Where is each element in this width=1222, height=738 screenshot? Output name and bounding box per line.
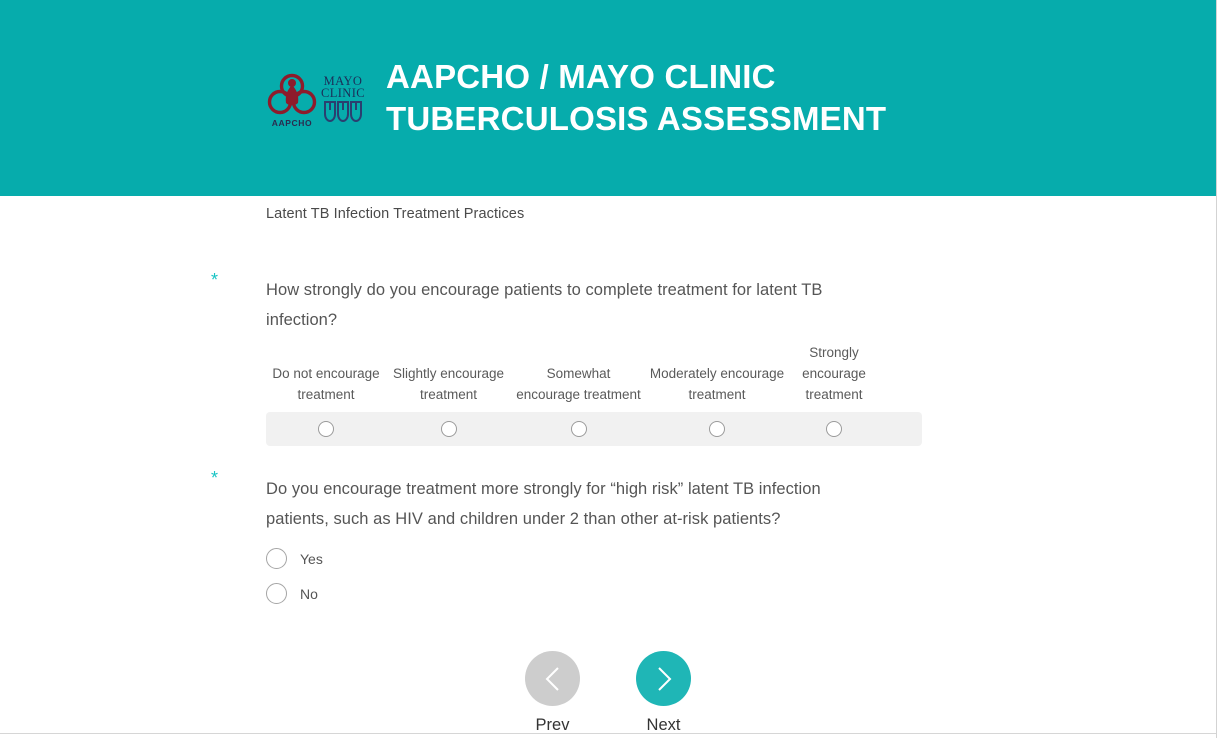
- form-body: Latent TB Infection Treatment Practices …: [0, 196, 1216, 738]
- next-button[interactable]: Next: [636, 651, 691, 735]
- rating-option-label-4: Moderately encourage treatment: [646, 363, 788, 405]
- mayo-shields-icon: [321, 100, 365, 126]
- rating-radio-3[interactable]: [571, 421, 587, 437]
- aapcho-logo: AAPCHO: [267, 73, 317, 128]
- choice-list-q2: Yes No: [266, 541, 323, 611]
- rating-radio-4[interactable]: [709, 421, 725, 437]
- choice-radio-no[interactable]: [266, 583, 287, 604]
- mayo-logo-line2: CLINIC: [321, 87, 365, 100]
- rating-radio-1[interactable]: [318, 421, 334, 437]
- rating-option-label-1: Do not encourage treatment: [266, 363, 386, 405]
- aapcho-logo-label: AAPCHO: [272, 118, 312, 128]
- rating-option-label-5: Strongly encourage treatment: [788, 342, 880, 405]
- chevron-left-icon: [540, 664, 566, 694]
- rating-cell-1[interactable]: [266, 421, 386, 437]
- rating-cell-2[interactable]: [386, 421, 511, 437]
- rating-matrix-row: [266, 412, 922, 446]
- rating-radio-2[interactable]: [441, 421, 457, 437]
- choice-radio-yes[interactable]: [266, 548, 287, 569]
- page-header: AAPCHO MAYO CLINIC AAPCHO: [0, 0, 1216, 196]
- logo-row: AAPCHO MAYO CLINIC: [267, 73, 365, 128]
- rating-matrix-q1: Do not encourage treatment Slightly enco…: [266, 342, 922, 446]
- section-title: Latent TB Infection Treatment Practices: [266, 206, 524, 222]
- chevron-right-icon: [651, 664, 677, 694]
- question-1-text: How strongly do you encourage patients t…: [266, 275, 881, 335]
- choice-no[interactable]: No: [266, 576, 323, 611]
- required-asterisk-q2: *: [211, 469, 218, 487]
- rating-option-label-2: Slightly encourage treatment: [386, 363, 511, 405]
- choice-yes[interactable]: Yes: [266, 541, 323, 576]
- choice-label-no: No: [300, 586, 318, 602]
- question-2-text: Do you encourage treatment more strongly…: [266, 474, 881, 534]
- logo-group: AAPCHO MAYO CLINIC: [264, 69, 368, 128]
- bottom-divider: [0, 733, 1216, 734]
- next-button-circle[interactable]: [636, 651, 691, 706]
- right-scrollbar-edge[interactable]: [1216, 0, 1222, 738]
- required-asterisk-q1: *: [211, 271, 218, 289]
- rating-radio-5[interactable]: [826, 421, 842, 437]
- mayo-clinic-logo: MAYO CLINIC: [321, 73, 365, 126]
- rating-matrix-header: Do not encourage treatment Slightly enco…: [266, 342, 922, 405]
- rating-cell-3[interactable]: [511, 421, 646, 437]
- choice-label-yes: Yes: [300, 551, 323, 567]
- page-title: AAPCHO / MAYO CLINIC TUBERCULOSIS ASSESS…: [386, 56, 886, 140]
- rating-cell-4[interactable]: [646, 421, 788, 437]
- prev-button-circle[interactable]: [525, 651, 580, 706]
- prev-button[interactable]: Prev: [525, 651, 580, 735]
- rating-cell-5[interactable]: [788, 421, 880, 437]
- aapcho-trefoil-icon: [267, 73, 317, 117]
- header-content: AAPCHO MAYO CLINIC AAPCHO: [264, 0, 886, 196]
- form-navigation: Prev Next: [0, 651, 1216, 735]
- rating-option-label-3: Somewhat encourage treatment: [511, 363, 646, 405]
